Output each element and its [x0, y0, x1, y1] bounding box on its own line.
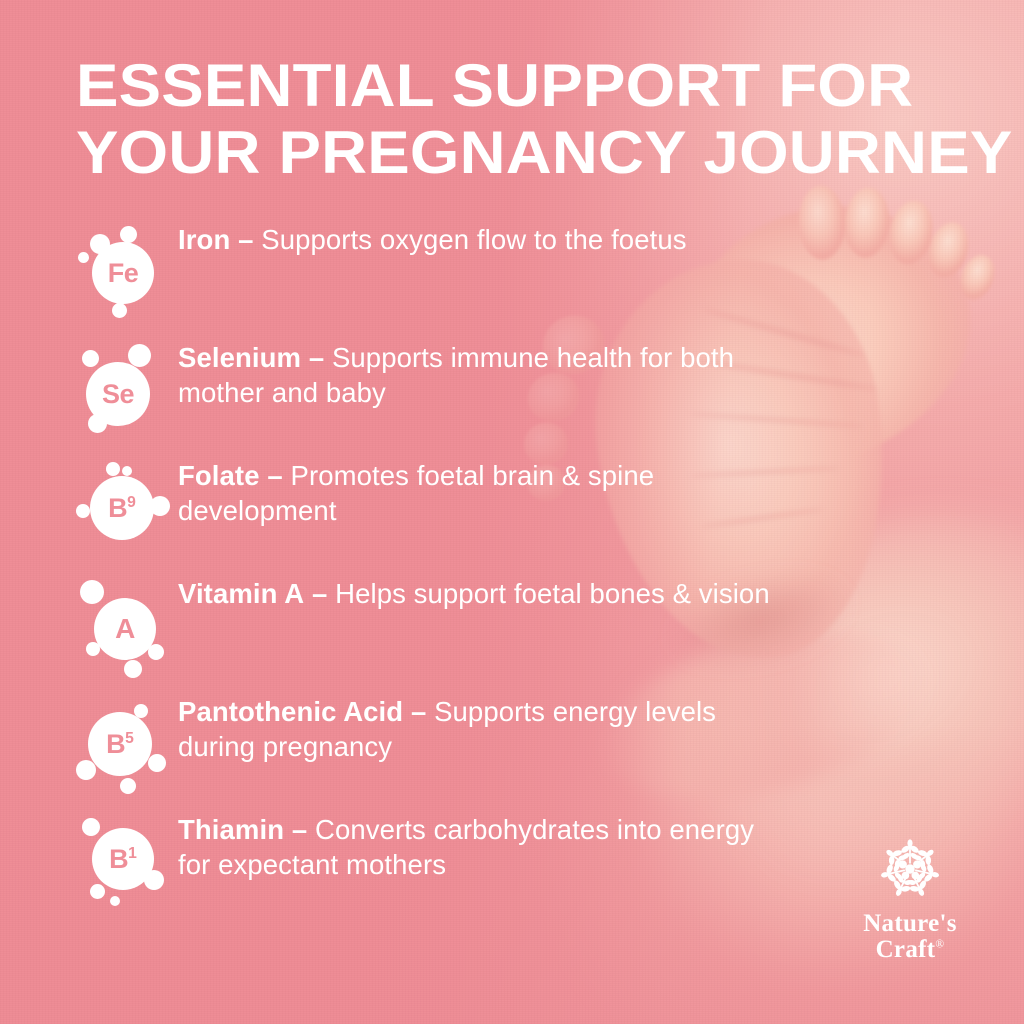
floral-wreath-icon [872, 831, 948, 907]
pantothenic-acid-symbol: B [106, 729, 125, 759]
folate-symbol: B [108, 493, 127, 523]
selenium-symbol: Se [102, 379, 134, 409]
list-item-selenium: Se Selenium – Supports immune health for… [76, 340, 776, 458]
headline-line-2: YOUR PREGNANCY JOURNEY [76, 119, 1024, 186]
thiamin-symbol-sup: 1 [128, 845, 137, 862]
vitamin-a-name: Vitamin A [178, 578, 304, 609]
list-item-vitamin-a: A Vitamin A – Helps support foetal bones… [76, 576, 776, 694]
iron-dash: – [238, 224, 253, 255]
thiamin-symbol: B [109, 844, 128, 874]
pregnancy-supplement-infographic: ESSENTIAL SUPPORT FOR YOUR PREGNANCY JOU… [0, 0, 1024, 1024]
iron-symbol: Fe [108, 258, 139, 288]
vitamin-a-symbol: A [115, 613, 135, 644]
list-item-pantothenic-acid: B5 Pantothenic Acid – Supports energy le… [76, 694, 776, 812]
list-item-thiamin: B1 Thiamin – Converts carbohydrates into… [76, 812, 776, 952]
iron-text: Iron – Supports oxygen flow to the foetu… [178, 222, 778, 257]
iron-molecule-icon: Fe [76, 226, 170, 320]
pantothenic-acid-text: Pantothenic Acid – Supports energy level… [178, 694, 778, 765]
nutrient-list: Fe Iron – Supports oxygen flow to the fo… [76, 222, 776, 952]
page-title: ESSENTIAL SUPPORT FOR YOUR PREGNANCY JOU… [76, 52, 1024, 186]
vitamin-a-molecule-icon: A [76, 580, 170, 674]
brand-logo: Nature's Craft® [844, 831, 976, 962]
folate-name: Folate [178, 460, 260, 491]
iron-description: Supports oxygen flow to the foetus [261, 224, 686, 255]
folate-text: Folate – Promotes foetal brain & spine d… [178, 458, 778, 529]
thiamin-dash: – [292, 814, 307, 845]
folate-symbol-sup: 9 [127, 494, 136, 511]
vitamin-a-dash: – [312, 578, 327, 609]
selenium-name: Selenium [178, 342, 301, 373]
list-item-iron: Fe Iron – Supports oxygen flow to the fo… [76, 222, 776, 340]
pantothenic-acid-molecule-icon: B5 [76, 698, 170, 792]
thiamin-text: Thiamin – Converts carbohydrates into en… [178, 812, 778, 883]
thiamin-molecule-icon: B1 [76, 816, 170, 910]
brand-name-line-2: Craft® [844, 937, 976, 962]
thiamin-name: Thiamin [178, 814, 284, 845]
pantothenic-acid-dash: – [411, 696, 426, 727]
vitamin-a-description: Helps support foetal bones & vision [335, 578, 770, 609]
registered-trademark-symbol: ® [935, 939, 944, 951]
folate-dash: – [267, 460, 282, 491]
brand-name-line-1: Nature's [863, 910, 957, 937]
selenium-dash: – [309, 342, 324, 373]
pantothenic-acid-symbol-sup: 5 [125, 730, 134, 747]
selenium-text: Selenium – Supports immune health for bo… [178, 340, 778, 411]
pantothenic-acid-name: Pantothenic Acid [178, 696, 403, 727]
iron-name: Iron [178, 224, 230, 255]
brand-wordmark: Nature's Craft® [844, 911, 976, 962]
list-item-folate: B9 Folate – Promotes foetal brain & spin… [76, 458, 776, 576]
selenium-molecule-icon: Se [76, 344, 170, 438]
headline-line-1: ESSENTIAL SUPPORT FOR [76, 52, 913, 119]
vitamin-a-text: Vitamin A – Helps support foetal bones &… [178, 576, 778, 611]
folate-molecule-icon: B9 [76, 462, 170, 556]
